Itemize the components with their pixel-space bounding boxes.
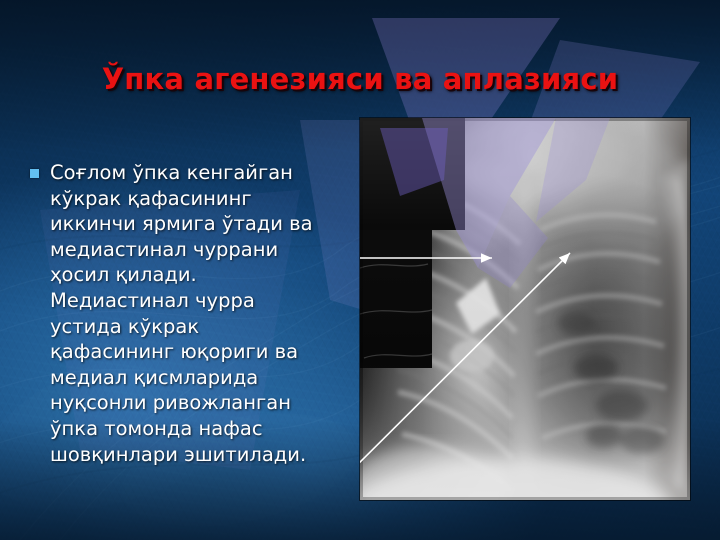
bullet-item: Соғлом ўпка кенгайган кўкрак қафасининг … — [30, 160, 360, 467]
presentation-slide: Ўпка агенезияси ва аплазияси Соғлом ўпка… — [0, 0, 720, 540]
chest-xray-image — [360, 118, 690, 500]
square-bullet-icon — [30, 169, 39, 178]
slide-body: Соғлом ўпка кенгайган кўкрак қафасининг … — [30, 160, 360, 467]
slide-title: Ўпка агенезияси ва аплазияси — [0, 62, 720, 96]
chest-xray-figure[interactable] — [360, 118, 690, 500]
bullet-item-text: Соғлом ўпка кенгайган кўкрак қафасининг … — [50, 160, 360, 467]
